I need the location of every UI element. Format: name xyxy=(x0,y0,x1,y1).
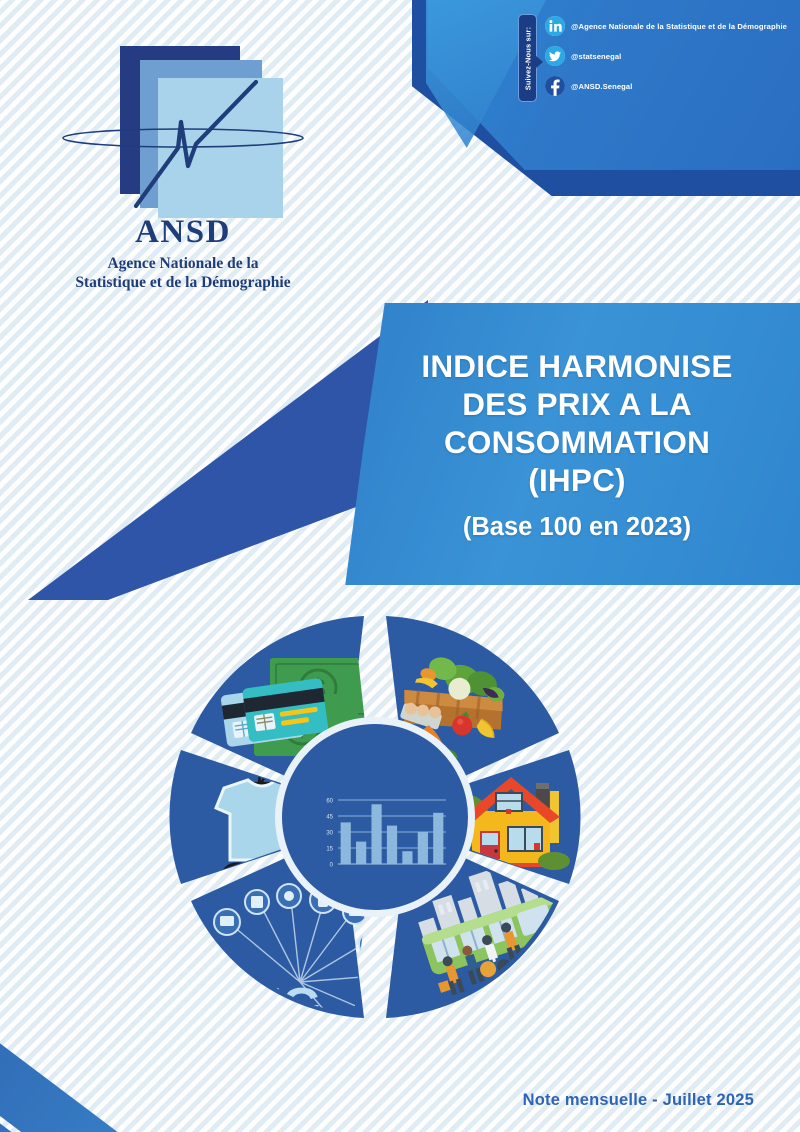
facebook-icon[interactable] xyxy=(545,76,565,96)
chart-ytick-label: 60 xyxy=(326,799,333,805)
chart-ytick-label: 30 xyxy=(326,831,333,837)
chart-ytick-label: 45 xyxy=(326,815,333,821)
logo-abbreviation: ANSD xyxy=(48,214,318,251)
follow-us-tab: Suivez-Nous sur: xyxy=(518,14,537,102)
cover-page: Suivez-Nous sur: @Agence Nationale de la… xyxy=(0,0,800,1132)
title-line-4: (IHPC) xyxy=(421,461,732,499)
page-title: INDICE HARMONISE DES PRIX A LA CONSOMMAT… xyxy=(421,347,732,499)
logo-org-line1: Agence Nationale de la xyxy=(48,254,318,273)
chart-bar xyxy=(387,826,397,864)
social-account-twitter[interactable]: @statsenegal xyxy=(545,46,787,66)
logo-chart-line-icon xyxy=(48,38,318,218)
linkedin-icon[interactable] xyxy=(545,16,565,36)
social-handle-linkedin: @Agence Nationale de la Statistique et d… xyxy=(571,22,787,31)
social-account-list: @Agence Nationale de la Statistique et d… xyxy=(545,14,787,102)
page-subtitle: (Base 100 en 2023) xyxy=(463,513,691,542)
follow-us-label: Suivez-Nous sur: xyxy=(523,26,532,90)
twitter-icon[interactable] xyxy=(545,46,565,66)
chart-bar xyxy=(418,832,428,864)
title-banner: INDICE HARMONISE DES PRIX A LA CONSOMMAT… xyxy=(336,303,800,585)
chart-bar xyxy=(341,822,351,864)
wheel-center-chart: 015304560 xyxy=(275,717,475,917)
title-line-1: INDICE HARMONISE xyxy=(421,347,732,385)
ansd-logo: ANSD Agence Nationale de la Statistique … xyxy=(48,38,318,308)
logo-organization-name: Agence Nationale de la Statistique et de… xyxy=(48,254,318,292)
footer-note: Note mensuelle - Juillet 2025 xyxy=(523,1091,754,1110)
social-account-linkedin[interactable]: @Agence Nationale de la Statistique et d… xyxy=(545,16,787,36)
chart-bar xyxy=(371,804,381,864)
chart-bar xyxy=(402,851,412,864)
logo-org-line2: Statistique et de la Démographie xyxy=(48,273,318,292)
chart-bar xyxy=(433,813,443,864)
chart-ytick-label: 15 xyxy=(326,847,333,853)
ihpc-category-wheel: 5G xyxy=(150,592,600,1042)
social-handle-facebook: @ANSD.Senegal xyxy=(571,82,632,91)
social-account-facebook[interactable]: @ANSD.Senegal xyxy=(545,76,787,96)
chart-bar xyxy=(356,842,366,864)
title-line-3: CONSOMMATION xyxy=(421,423,732,461)
title-line-2: DES PRIX A LA xyxy=(421,385,732,423)
social-media-block: Suivez-Nous sur: @Agence Nationale de la… xyxy=(518,14,787,102)
social-handle-twitter: @statsenegal xyxy=(571,52,621,61)
